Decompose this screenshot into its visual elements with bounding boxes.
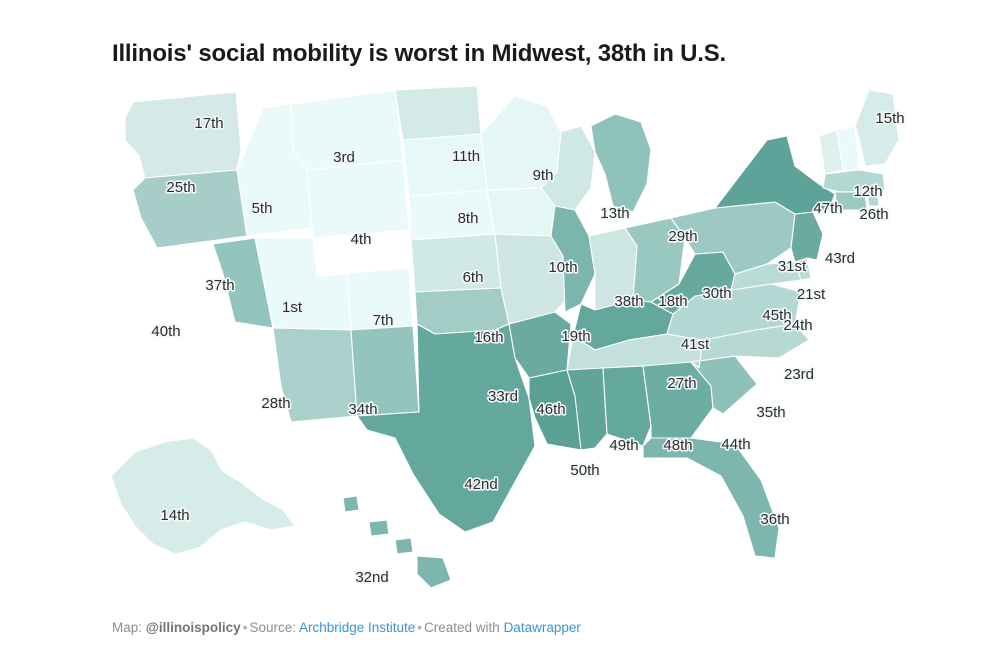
footer-created-prefix: Created with [424,620,504,635]
state-ME[interactable] [855,90,899,166]
footer-map-prefix: Map: [112,620,146,635]
state-WA[interactable] [125,92,241,178]
label-IA: 10th [548,259,577,276]
footer-separator-2: • [415,620,424,635]
label-MS: 49th [609,437,638,454]
label-ND: 11th [452,148,480,165]
label-NY: 47th [813,200,842,217]
label-WA: 17th [194,115,223,132]
label-ME: 15th [875,110,904,127]
label-MI: 29th [668,228,697,245]
state-NJ[interactable] [791,212,823,262]
label-NE: 6th [463,269,484,286]
label-IL: 38th [614,293,643,310]
label-LA: 50th [570,462,599,479]
footer-source-prefix: Source: [249,620,299,635]
us-map-svg[interactable]: 17th 3rd 11th 9th 15th 25th 5th 8th 13th… [95,78,925,603]
label-MO: 19th [561,328,590,345]
label-KY: 41st [681,336,710,353]
state-WY[interactable] [307,160,409,238]
label-MN: 9th [533,167,554,184]
label-NJ: 43rd [825,250,855,267]
label-OR: 25th [166,179,195,196]
label-AK: 14th [160,507,189,524]
label-UT: 1st [282,299,303,316]
label-AR: 46th [536,401,565,418]
label-TN: 27th [667,375,696,392]
footer-map-credit: @illinoispolicy [146,620,241,635]
label-VA: 24th [783,317,812,334]
choropleth-map[interactable]: 17th 3rd 11th 9th 15th 25th 5th 8th 13th… [95,78,925,603]
label-HI: 32nd [355,569,388,586]
page-title: Illinois' social mobility is worst in Mi… [112,40,726,68]
state-AL[interactable] [603,366,651,446]
label-SD: 8th [458,210,479,227]
state-KS[interactable] [411,234,501,292]
state-HI-4[interactable] [417,556,451,588]
footer-datawrapper-link[interactable]: Datawrapper [504,620,581,635]
label-OK: 33rd [488,388,518,405]
label-PA: 31st [778,258,807,275]
label-OH: 30th [702,285,731,302]
label-SC: 35th [756,404,785,421]
state-MI[interactable] [591,114,651,212]
footer-source-link[interactable]: Archbridge Institute [299,620,415,635]
label-WI: 13th [600,205,629,222]
state-HI[interactable] [343,496,359,512]
label-AZ: 28th [261,395,290,412]
state-HI-2[interactable] [369,520,389,536]
label-NV: 37th [205,277,234,294]
map-page: Illinois' social mobility is worst in Mi… [0,0,1005,660]
state-IA[interactable] [487,188,555,236]
label-KS: 16th [474,329,503,346]
label-FL: 36th [760,511,789,528]
label-NC: 23rd [784,366,814,383]
label-GA: 44th [721,436,750,453]
label-TX: 42nd [464,476,497,493]
state-FL[interactable] [643,438,779,558]
label-WY: 4th [351,231,372,248]
footer-credits: Map: @illinoispolicy•Source: Archbridge … [112,620,581,635]
state-HI-3[interactable] [395,538,413,554]
label-MD: 21st [797,286,826,303]
state-OK[interactable] [415,288,509,334]
label-NM: 34th [348,401,377,418]
label-VT: 12th [853,183,882,200]
state-AK[interactable] [111,438,295,554]
label-CO: 7th [373,312,394,329]
label-ID: 5th [252,200,273,217]
state-ND[interactable] [395,86,481,140]
label-AL: 48th [663,437,692,454]
state-SD[interactable] [403,134,487,196]
state-NE[interactable] [409,190,495,240]
label-CA: 40th [151,323,180,340]
label-MA: 26th [859,206,888,223]
label-IN: 18th [658,293,687,310]
label-MT: 3rd [333,149,355,166]
